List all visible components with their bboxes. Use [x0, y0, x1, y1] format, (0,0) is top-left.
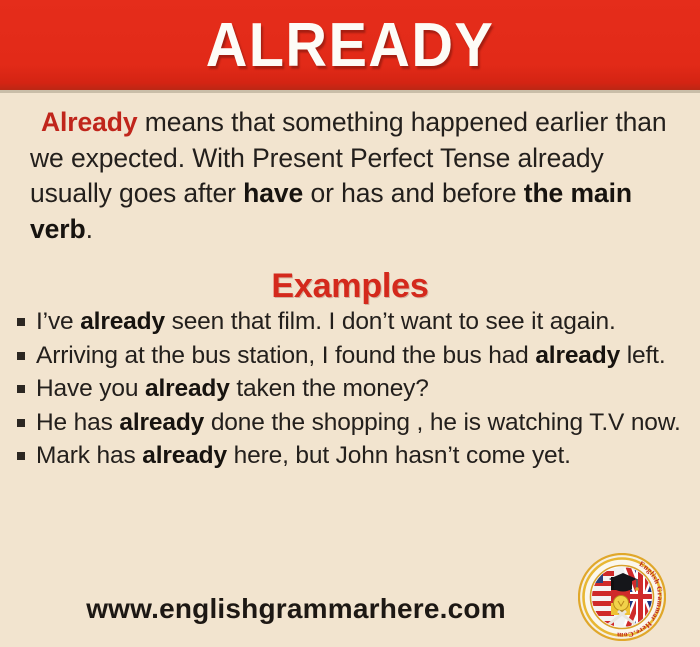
- english-grammar-here-logo: English Grammar Here.Com: [578, 553, 666, 641]
- square-bullet-icon: [17, 352, 25, 360]
- definition-bold-have: have: [243, 178, 303, 208]
- example-text-post: done the shopping , he is watching T.V n…: [204, 409, 680, 436]
- example-text-pre: Have you: [36, 375, 145, 402]
- website-url: www.englishgrammarhere.com: [46, 592, 546, 626]
- square-bullet-icon: [17, 385, 25, 393]
- list-item: Have you already taken the money?: [16, 373, 686, 405]
- square-bullet-icon: [17, 419, 25, 427]
- examples-list: I’ve already seen that film. I don’t wan…: [16, 306, 686, 474]
- list-item: Mark has already here, but John hasn’t c…: [16, 440, 686, 472]
- example-bold-already: already: [535, 342, 620, 369]
- example-text-pre: Mark has: [36, 442, 142, 469]
- poster-root: ALREADY Already means that something hap…: [0, 0, 700, 647]
- example-bold-already: already: [119, 409, 204, 436]
- examples-heading: Examples: [0, 266, 700, 306]
- example-text-post: seen that film. I don’t want to see it a…: [165, 308, 616, 335]
- list-item: I’ve already seen that film. I don’t wan…: [16, 306, 686, 338]
- example-text-pre: I’ve: [36, 308, 80, 335]
- definition-text-part-3: .: [86, 214, 93, 244]
- page-title: ALREADY: [25, 11, 676, 81]
- definition-paragraph: Already means that something happened ea…: [30, 105, 678, 247]
- example-text-post: taken the money?: [230, 375, 429, 402]
- example-text-pre: He has: [36, 409, 119, 436]
- definition-text-part-2: or has and before: [303, 178, 524, 208]
- square-bullet-icon: [17, 452, 25, 460]
- example-text-post: left.: [620, 342, 665, 369]
- list-item: Arriving at the bus station, I found the…: [16, 340, 686, 372]
- example-bold-already: already: [80, 308, 165, 335]
- list-item: He has already done the shopping , he is…: [16, 407, 686, 439]
- example-bold-already: already: [142, 442, 227, 469]
- example-text-post: here, but John hasn’t come yet.: [227, 442, 571, 469]
- example-bold-already: already: [145, 375, 230, 402]
- header-band: ALREADY: [0, 0, 700, 93]
- example-text-pre: Arriving at the bus station, I found the…: [36, 342, 535, 369]
- lead-word-already: Already: [41, 107, 138, 137]
- square-bullet-icon: [17, 318, 25, 326]
